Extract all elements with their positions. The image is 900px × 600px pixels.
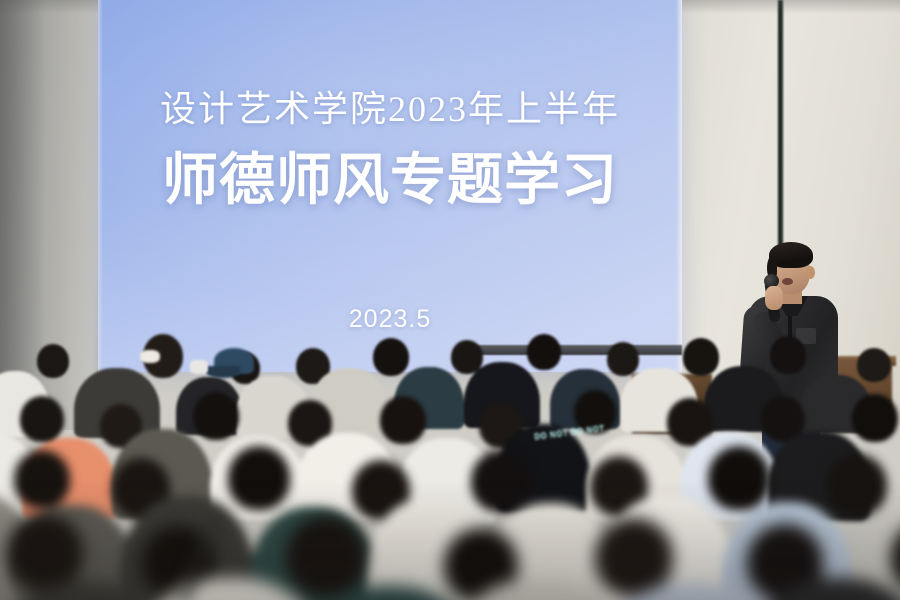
slide-title: 师德师风专题学习 <box>98 135 682 216</box>
presenter-ear <box>806 266 815 279</box>
audience-member-head <box>595 518 673 596</box>
presenter-mouth <box>782 278 793 285</box>
audience-face-mask <box>190 360 208 374</box>
audience-member <box>846 520 900 600</box>
audience-row-foreground <box>0 300 900 600</box>
audience: DO NOT DO NOT <box>0 300 900 600</box>
audience-hair-scrunchie <box>140 350 160 363</box>
slide-subtitle: 设计艺术学院2023年上半年 <box>98 80 682 132</box>
audience-member-head <box>891 520 900 594</box>
audience-cap-brim <box>206 366 240 378</box>
audience-member-head <box>286 516 366 596</box>
lecture-hall-photo: 设计艺术学院2023年上半年 师德师风专题学习 2023.5 DO NOT DO… <box>0 0 900 600</box>
audience-member-head <box>7 514 83 590</box>
